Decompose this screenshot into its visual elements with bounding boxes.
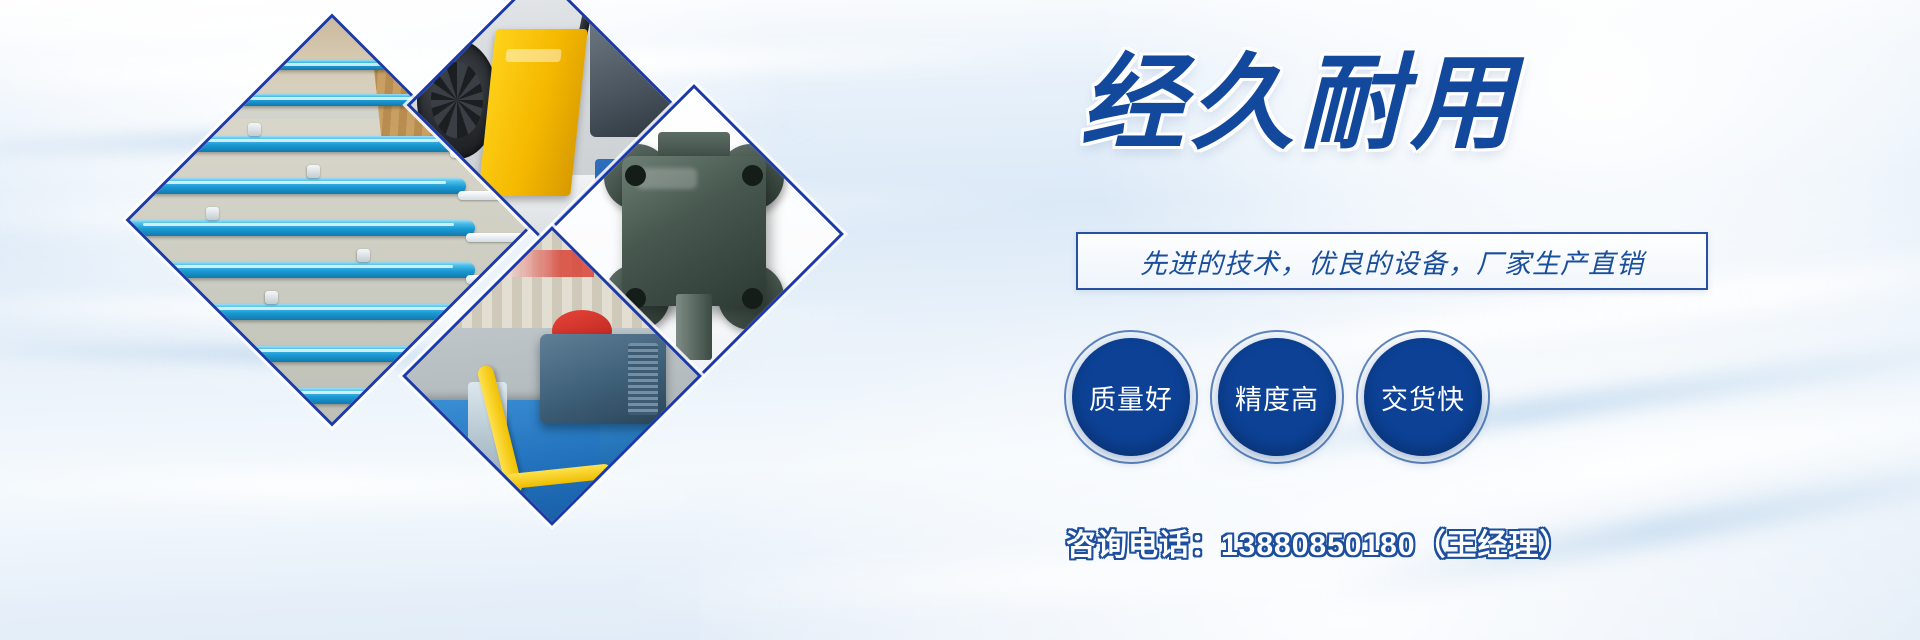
product-photo-collage bbox=[150, 0, 850, 640]
feature-badge-group: 质量好 精度高 交货快 bbox=[1072, 338, 1482, 456]
feature-badge-label: 交货快 bbox=[1381, 378, 1465, 417]
feature-badge-quality[interactable]: 质量好 bbox=[1072, 338, 1190, 456]
feature-badge-label: 质量好 bbox=[1089, 378, 1173, 417]
promo-banner: 经久耐用 先进的技术，优良的设备，厂家生产直销 质量好 精度高 交货快 咨询电话… bbox=[0, 0, 1920, 640]
banner-content: 经久耐用 先进的技术，优良的设备，厂家生产直销 质量好 精度高 交货快 咨询电话… bbox=[1060, 0, 1920, 640]
banner-subtitle: 先进的技术，优良的设备，厂家生产直销 bbox=[1140, 242, 1644, 281]
feature-badge-label: 精度高 bbox=[1235, 378, 1319, 417]
banner-headline: 经久耐用 bbox=[1080, 52, 1520, 156]
contact-phone-line[interactable]: 咨询电话：13880850180（王经理） bbox=[1066, 520, 1571, 564]
feature-badge-precision[interactable]: 精度高 bbox=[1218, 338, 1336, 456]
feature-badge-delivery[interactable]: 交货快 bbox=[1364, 338, 1482, 456]
banner-subtitle-box: 先进的技术，优良的设备，厂家生产直销 bbox=[1076, 232, 1708, 290]
